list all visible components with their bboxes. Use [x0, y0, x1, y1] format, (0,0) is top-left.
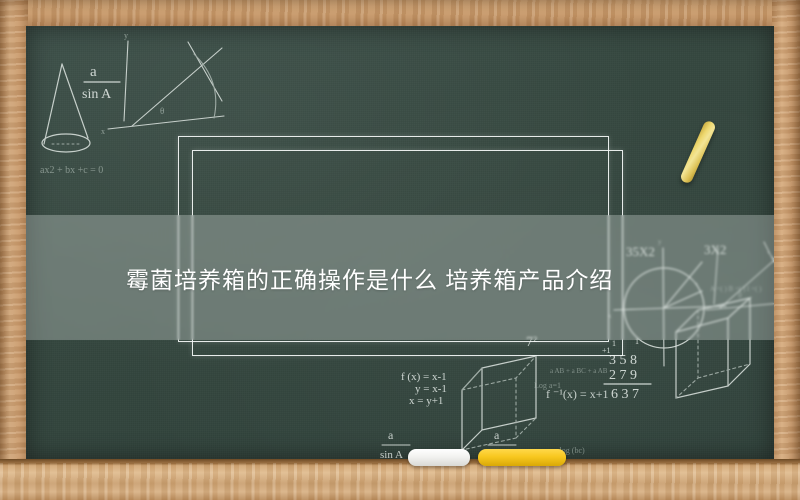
white-chalk-piece [408, 449, 470, 466]
chalk-cone [42, 64, 90, 152]
svg-text:x: x [101, 127, 105, 136]
chalk-axes-angle-topleft: y x θ [101, 31, 224, 136]
svg-text:a: a [388, 428, 394, 442]
chalk-cube-left [462, 356, 536, 450]
chalk-fraction-a-sinA-topleft: a sin A [82, 64, 120, 102]
chalk-quadratic-equation: ax2 + bx +c = 0 [40, 165, 103, 176]
svg-text:y = x-1: y = x-1 [415, 383, 447, 395]
chalk-fraction-a-sinA-bottomleft: a sin A [380, 428, 410, 459]
svg-text:2 7 9: 2 7 9 [609, 368, 637, 383]
svg-text:f (x) = x-1: f (x) = x-1 [401, 371, 447, 383]
svg-text:a: a [90, 64, 97, 80]
svg-text:6 3 7: 6 3 7 [611, 387, 639, 402]
svg-text:sin A: sin A [82, 87, 112, 102]
chalk-ledge [0, 463, 800, 500]
svg-text:θ: θ [160, 106, 164, 116]
svg-text:x = y+1: x = y+1 [409, 395, 443, 407]
chalk-vector-note: a AB + a BC + a AB [550, 367, 608, 375]
blackboard-surface: a sin A y x θ ax2 + bx +c = 0 [26, 26, 774, 459]
svg-text:y: y [124, 31, 128, 40]
svg-text:a: a [494, 428, 500, 442]
frame-rail-top [0, 0, 800, 26]
chalk-inverse-function: f ⁻¹(x) = x+1 [546, 387, 608, 401]
blackboard-banner: a sin A y x θ ax2 + bx +c = 0 [0, 0, 800, 500]
frame-rail-right [772, 0, 800, 500]
yellow-chalk-piece [478, 449, 566, 466]
svg-text:sin A: sin A [380, 449, 403, 459]
chalk-function-list: f (x) = x-1 y = x-1 x = y+1 [401, 371, 447, 407]
chalk-log-a-label: Log a=1 [534, 381, 561, 390]
yellow-chalk-stick [679, 119, 717, 184]
frame-rail-left [0, 0, 28, 500]
page-title: 霉菌培养箱的正确操作是什么 培养箱产品介绍 [26, 215, 774, 340]
